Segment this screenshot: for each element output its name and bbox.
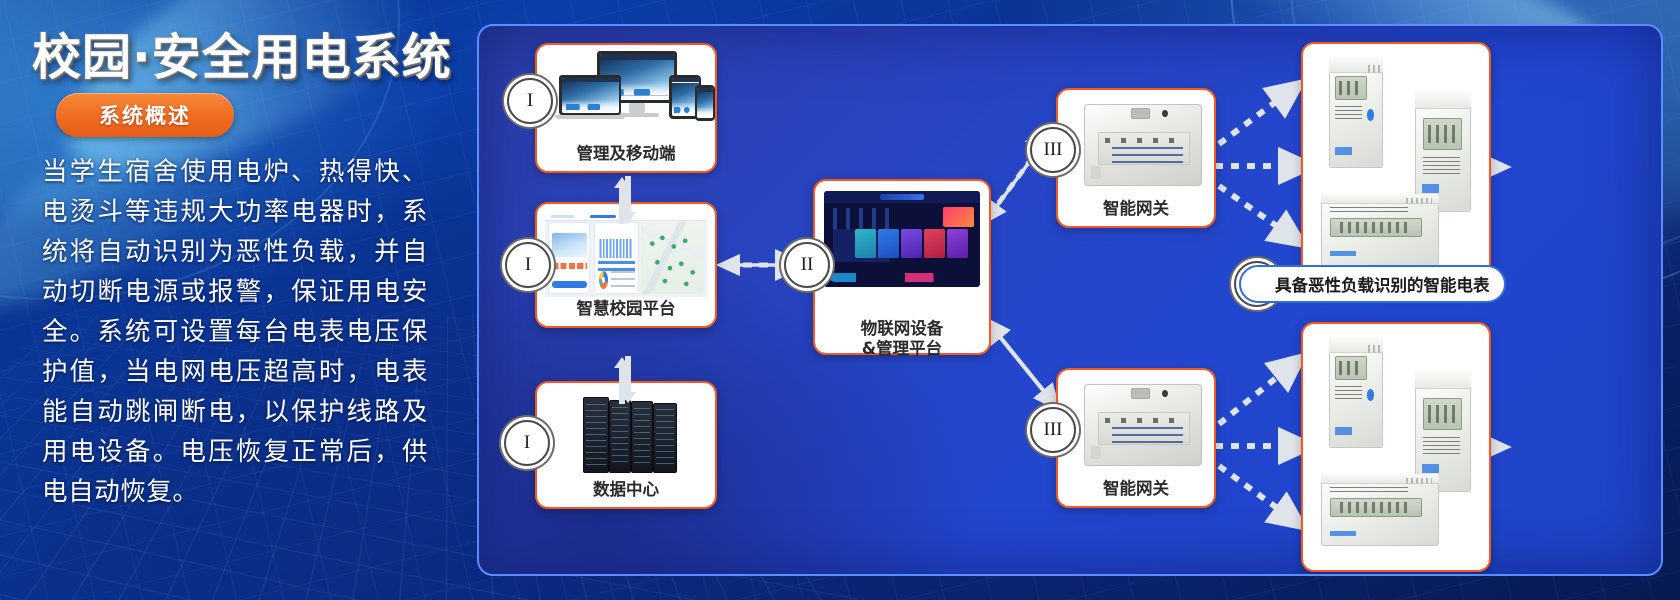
- description-text: 当学生宿舍使用电炉、热得快、电烫斗等违规大功率电器时，系统将自动识别为恶性负载，…: [42, 152, 428, 512]
- marker-smart-campus: I: [505, 242, 551, 288]
- connector-campus-to-datacenter: [611, 356, 639, 404]
- node-label-line2: &管理平台: [815, 339, 989, 359]
- node-iot-platform[interactable]: 物联网设备 &管理平台: [813, 179, 991, 355]
- status-badge-label: 系统概述: [99, 100, 191, 130]
- din-meter-vertical: [1329, 338, 1383, 448]
- node-label: 智能网关: [1058, 199, 1214, 219]
- din-meter-wide: [1321, 474, 1439, 546]
- gateway-icon: [1084, 384, 1202, 466]
- marker-data-center: I: [504, 420, 550, 466]
- devices-icon: [537, 45, 715, 133]
- marker-management-mobile: I: [507, 78, 553, 124]
- meter-panel-bottom[interactable]: [1301, 322, 1491, 572]
- din-meter-vertical: [1329, 58, 1383, 168]
- meter-panel-top[interactable]: [1301, 42, 1491, 292]
- din-meter-wide: [1321, 194, 1439, 266]
- node-label: 管理及移动端: [537, 144, 715, 164]
- node-label: 智慧校园平台: [537, 299, 715, 319]
- connector-management-to-campus: [611, 176, 639, 224]
- node-label: 智能网关: [1058, 479, 1214, 499]
- status-badge: 系统概述: [56, 93, 234, 137]
- smart-meter-callout[interactable]: 具备恶性负载识别的智能电表: [1239, 265, 1506, 303]
- architecture-diagram: iot platform (dotted, double) -->: [477, 24, 1663, 576]
- page-title: 校园·安全用电系统: [32, 18, 452, 89]
- intro-panel: 校园·安全用电系统 系统概述 当学生宿舍使用电炉、热得快、电烫斗等违规大功率电器…: [0, 0, 470, 600]
- dashboard-icon: [545, 213, 707, 297]
- marker-iot-platform: II: [784, 242, 830, 288]
- node-management-mobile[interactable]: 管理及移动端: [535, 43, 717, 173]
- marker-smart-gateway-bottom: III: [1030, 407, 1076, 453]
- iot-screen-icon: [824, 191, 980, 287]
- poster-root: 校园·安全用电系统 系统概述 当学生宿舍使用电炉、热得快、电烫斗等违规大功率电器…: [0, 0, 1680, 600]
- node-smart-gateway-top[interactable]: 智能网关: [1056, 88, 1216, 228]
- node-label-line1: 物联网设备: [815, 319, 989, 339]
- node-smart-gateway-bottom[interactable]: 智能网关: [1056, 368, 1216, 508]
- marker-smart-gateway-top: III: [1030, 127, 1076, 173]
- server-rack-icon: [583, 397, 679, 473]
- smart-meter-callout-label: 具备恶性负载识别的智能电表: [1275, 272, 1490, 296]
- connector-iot-to-gateway-bottom: [991, 326, 1051, 400]
- gateway-icon: [1084, 104, 1202, 186]
- node-label: 数据中心: [537, 480, 715, 500]
